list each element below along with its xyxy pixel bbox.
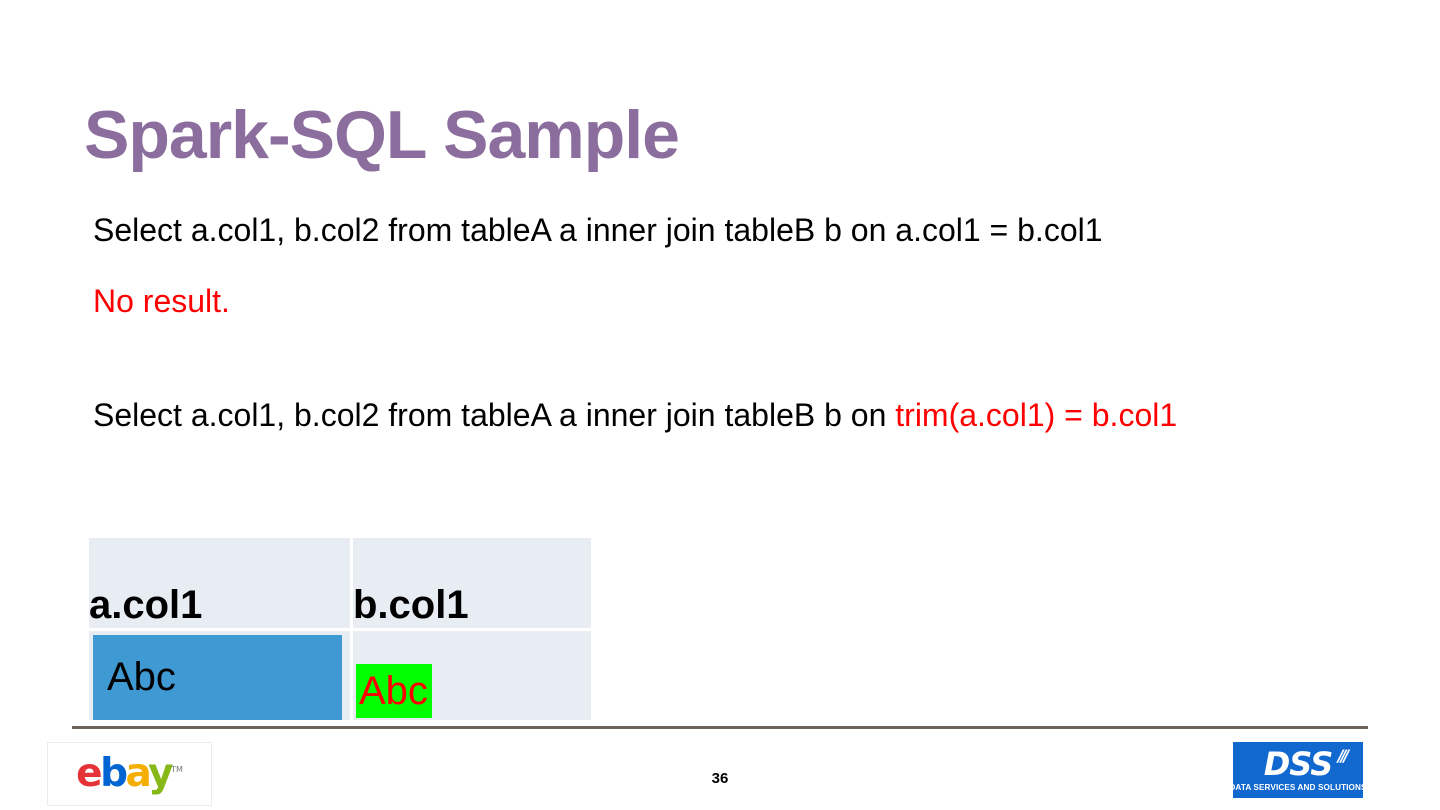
ebay-letter-b: b [100,751,125,796]
table-header-row: a.col1 b.col1 [89,538,594,631]
dss-tagline: DATA SERVICES AND SOLUTIONS [1233,783,1363,792]
slide-canvas: Spark-SQL Sample Select a.col1, b.col2 f… [0,0,1440,810]
cell-b-col1: Abc [353,631,594,723]
ebay-trademark-icon: TM [171,765,183,774]
dss-logo: DSS/// DATA SERVICES AND SOLUTIONS [1233,742,1363,798]
page-title: Spark-SQL Sample [84,98,679,173]
page-number: 36 [0,770,1440,787]
ebay-wordmark: ebayTM [76,754,183,793]
ebay-letter-y: y [148,751,171,796]
cell-b-col1-value: Abc [356,664,432,718]
sql-query-1: Select a.col1, b.col2 from tableA a inne… [93,206,1343,255]
sql-query-2: Select a.col1, b.col2 from tableA a inne… [93,391,1343,440]
cell-a-col1: Abc [89,631,353,723]
slide-body: Select a.col1, b.col2 from tableA a inne… [93,206,1343,439]
result-table: a.col1 b.col1 Abc Abc [89,538,594,723]
ebay-logo: ebayTM [47,742,212,806]
column-header-a-col1: a.col1 [89,538,353,631]
dss-slash-icon: /// [1338,748,1347,764]
sql-query-2-highlight: trim(a.col1) = b.col1 [895,397,1177,433]
body-spacer [93,325,1343,391]
table-row: Abc Abc [89,631,594,723]
sql-query-2-prefix: Select a.col1, b.col2 from tableA a inne… [93,397,895,433]
footer-divider [72,726,1368,729]
column-header-b-col1: b.col1 [353,538,594,631]
cell-a-col1-value: Abc [93,635,342,720]
dss-mark-text: DSS [1264,745,1333,783]
ebay-letter-a: a [126,751,149,796]
dss-wordmark: DSS/// [1264,748,1333,780]
query-1-result: No result. [93,277,1343,325]
ebay-letter-e: e [76,751,100,796]
